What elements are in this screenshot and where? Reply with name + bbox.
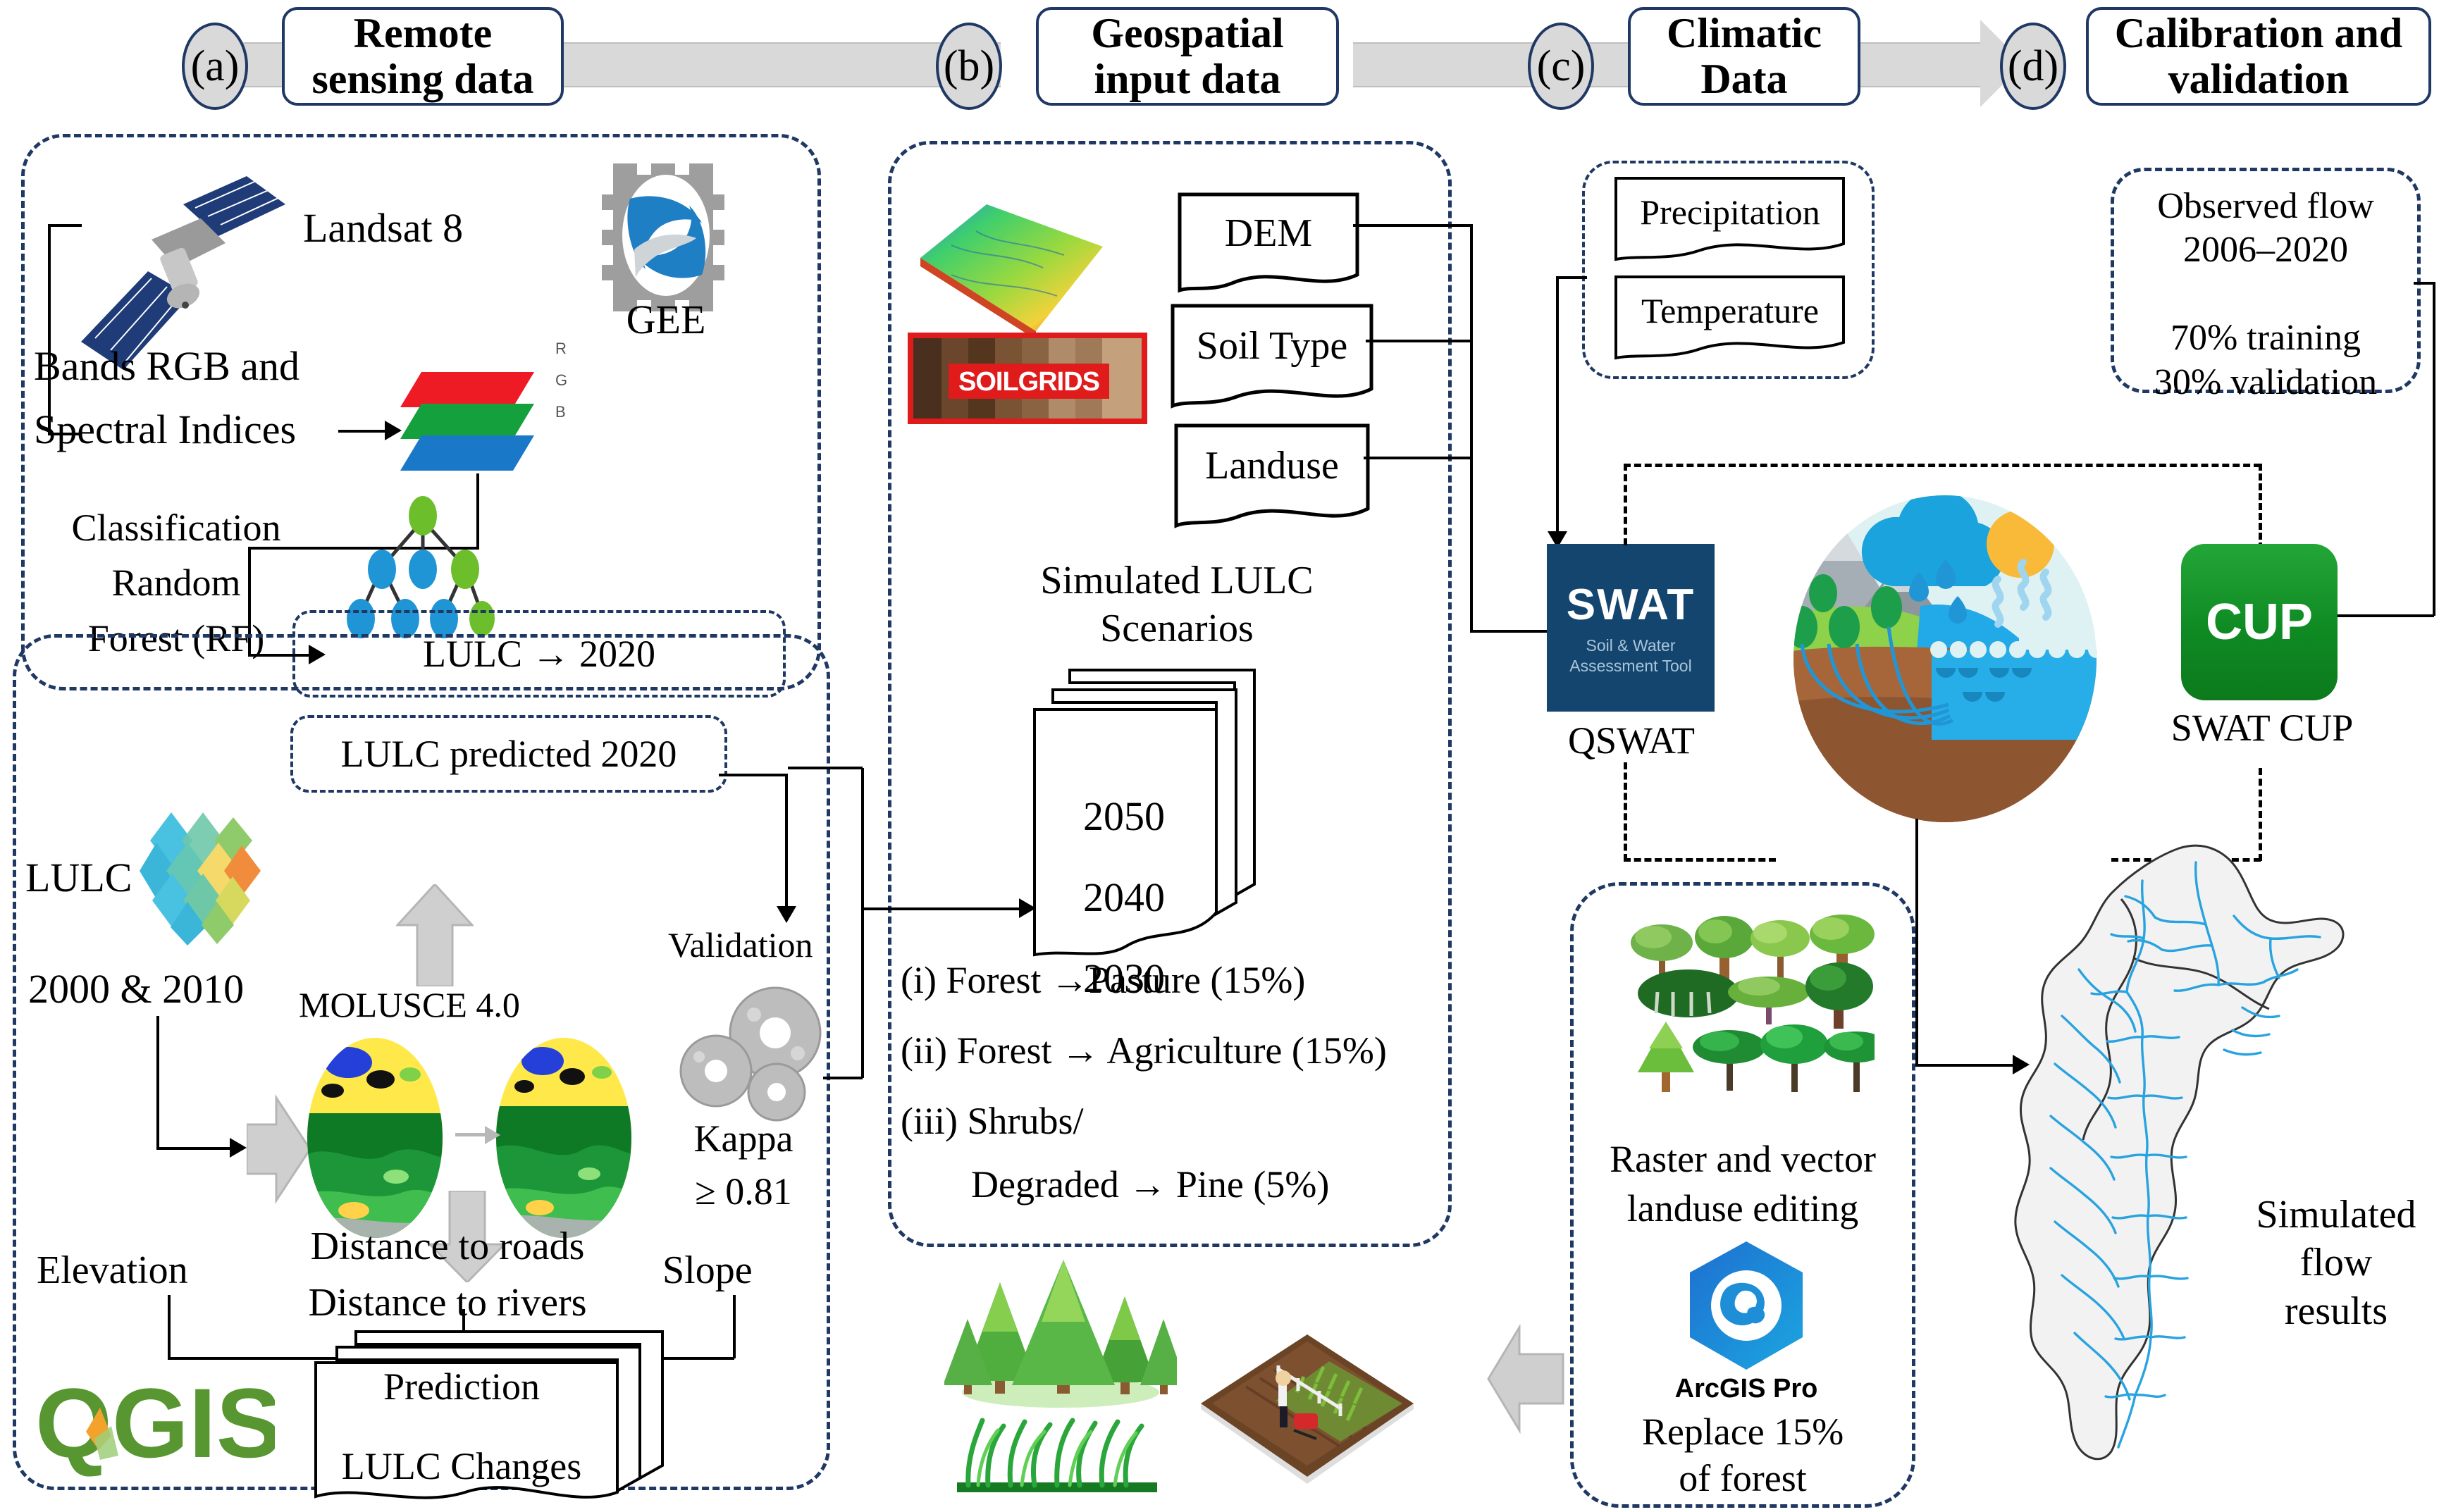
stage-title-c-label: Climatic Data	[1667, 11, 1822, 102]
dem-bus-line	[1353, 224, 1473, 227]
prediction-doc-label: Prediction LULC Changes	[303, 1367, 620, 1487]
lulc-years-down-line	[156, 1016, 159, 1150]
scenario-item-3b: Degraded → Pine (5%)	[971, 1163, 1329, 1208]
elevation-label: Elevation	[37, 1247, 188, 1294]
stage-title-d-label: Calibration and validation	[2115, 11, 2402, 102]
arcgis-to-scenarios-arrow	[1487, 1325, 1564, 1434]
slope-label: Slope	[662, 1247, 753, 1294]
stage-title-a-label: Remote sensing data	[311, 11, 533, 102]
dem-doc-label: DEM	[1177, 210, 1360, 256]
cup-dash-top-v	[2259, 464, 2262, 550]
panela-kappa-bridge	[823, 1077, 863, 1079]
scenario-item-1: (i) Forest →Pasture (15%)	[901, 958, 1305, 1003]
landuse-bus-line	[1364, 457, 1473, 459]
temperature-doc-label: Temperature	[1614, 290, 1846, 332]
svg-text:QGIS: QGIS	[35, 1368, 275, 1478]
grass-icon	[951, 1409, 1163, 1494]
stage-title-c: Climatic Data	[1628, 7, 1860, 106]
bands-label: Bands RGB and Spectral Indices	[34, 335, 300, 461]
scenario-item-3: (iii) Shrubs/	[901, 1099, 1084, 1144]
stage-marker-c: (c)	[1528, 23, 1594, 110]
lulc-years-right-line	[156, 1147, 233, 1150]
swat-logo-subtitle: Soil & Water Assessment Tool	[1569, 636, 1691, 676]
observed-flow-label: Observed flow 2006–2020 70% training 30%…	[2118, 185, 2414, 404]
landsat-label: Landsat 8	[303, 204, 463, 252]
rgb-bands-icon	[393, 330, 555, 485]
qswat-dash-bottom	[1624, 858, 1776, 862]
observed-to-cup-h1	[2414, 282, 2435, 285]
stage-marker-d: (d)	[2000, 23, 2066, 110]
lulc-label: LULC	[25, 854, 132, 902]
swat-cup-dash-top	[1624, 464, 2261, 467]
lulc-years-arrow	[230, 1138, 247, 1158]
qswat-dash-bottom-v	[1624, 762, 1627, 861]
lulc-map-after	[493, 1036, 634, 1240]
stage-marker-d-label: (d)	[2008, 42, 2058, 92]
swat-cup-label: SWAT CUP	[2142, 706, 2382, 751]
gears-icon	[671, 986, 833, 1127]
distance-label: Distance to roads Distance to rivers	[282, 1219, 613, 1331]
qswat-label: QSWAT	[1540, 719, 1723, 764]
soilgrids-icon: SOILGRIDS	[908, 333, 1147, 424]
soil-bus-line	[1366, 340, 1473, 342]
elevation-down-line	[168, 1295, 171, 1358]
stage-marker-c-label: (c)	[1537, 42, 1586, 92]
slope-down-line	[733, 1295, 736, 1358]
simulated-flow-label: Simulated flow results	[2234, 1191, 2438, 1335]
stage-marker-b-label: (b)	[944, 42, 994, 92]
simulated-flow-map	[1994, 831, 2361, 1465]
agriculture-plot-icon	[1191, 1325, 1424, 1494]
lulc-years-label: 2000 & 2010	[28, 965, 244, 1013]
stage-title-a: Remote sensing data	[282, 7, 564, 106]
soil-type-doc-label: Soil Type	[1170, 323, 1374, 369]
molusce-up-arrow	[396, 884, 474, 986]
arcgis-label: ArcGIS Pro	[1612, 1374, 1880, 1404]
header-ribbon-d	[1860, 42, 1987, 87]
stage-marker-b: (b)	[936, 23, 1002, 110]
scenarios-title: Simulated LULC Scenarios	[965, 557, 1388, 653]
observed-to-cup-v	[2433, 282, 2435, 616]
kappa-value: ≥ 0.81	[662, 1170, 825, 1215]
swat-dash-top-v	[1624, 464, 1627, 545]
geospatial-bus-vertical	[1470, 224, 1473, 633]
bands-to-rgb-line	[338, 430, 386, 433]
pine-forest-icon	[944, 1254, 1177, 1409]
lulc-to-validation-arrow	[777, 906, 796, 923]
stage-title-b: Geospatial input data	[1036, 7, 1339, 106]
lulc-predicted-box: LULC predicted 2020	[290, 715, 727, 793]
validation-label: Validation	[668, 924, 813, 966]
panela-to-scenarios-top	[788, 767, 863, 769]
arcgis-pro-icon	[1683, 1239, 1810, 1372]
swat-logo-title: SWAT	[1567, 580, 1696, 630]
cup-logo-text: CUP	[2206, 593, 2313, 651]
scenario-item-2: (ii) Forest → Agriculture (15%)	[901, 1029, 1387, 1074]
bracket-top-horizontal	[48, 224, 82, 227]
lulc-predicted-label: LULC predicted 2020	[341, 732, 677, 776]
cup-logo: CUP	[2181, 544, 2338, 700]
dem-terrain-icon	[909, 190, 1113, 345]
molusce-input-grey-arrow	[247, 1093, 311, 1205]
scenario-year-2050: 2050	[1029, 793, 1219, 841]
stage-marker-a-label: (a)	[191, 42, 240, 92]
molusce-label: MOLUSCE 4.0	[299, 984, 520, 1026]
editing-label: Raster and vector landuse editing	[1577, 1134, 1908, 1233]
scenario-year-2040: 2040	[1029, 874, 1219, 922]
band-letter-r: R	[555, 340, 567, 358]
band-letter-g: G	[555, 371, 567, 390]
stage-marker-a: (a)	[182, 23, 248, 110]
swat-logo: SWAT Soil & Water Assessment Tool	[1547, 544, 1715, 712]
watercycle-down-line	[1915, 819, 1918, 1067]
panela-to-scenarios-v	[861, 768, 864, 1078]
gee-label: GEE	[595, 296, 736, 344]
scenarios-in-arrow	[1019, 898, 1036, 918]
band-letter-b: B	[555, 403, 566, 421]
stage-title-d: Calibration and validation	[2086, 7, 2431, 106]
lulc-mosaic-icon	[140, 809, 266, 946]
tree-variety-icon	[1621, 909, 1875, 1106]
lulc-map-before	[304, 1036, 445, 1240]
kappa-label: Kappa	[662, 1117, 825, 1162]
scenarios-in-line	[861, 907, 1023, 910]
replace-forest-label: Replace 15% of forest	[1591, 1409, 1894, 1502]
qgis-icon: QGIS	[35, 1367, 275, 1487]
stage-title-b-label: Geospatial input data	[1091, 11, 1283, 102]
climate-left-stub	[1556, 276, 1587, 279]
landuse-doc-label: Landuse	[1173, 442, 1371, 489]
lulc-to-validation-v	[785, 774, 788, 912]
lulc-to-validation-h	[719, 774, 788, 776]
precipitation-doc-label: Precipitation	[1614, 192, 1846, 233]
water-cycle-icon	[1786, 493, 2104, 824]
climate-to-swat-v	[1556, 276, 1559, 537]
svg-text:SOILGRIDS: SOILGRIDS	[958, 367, 1099, 397]
